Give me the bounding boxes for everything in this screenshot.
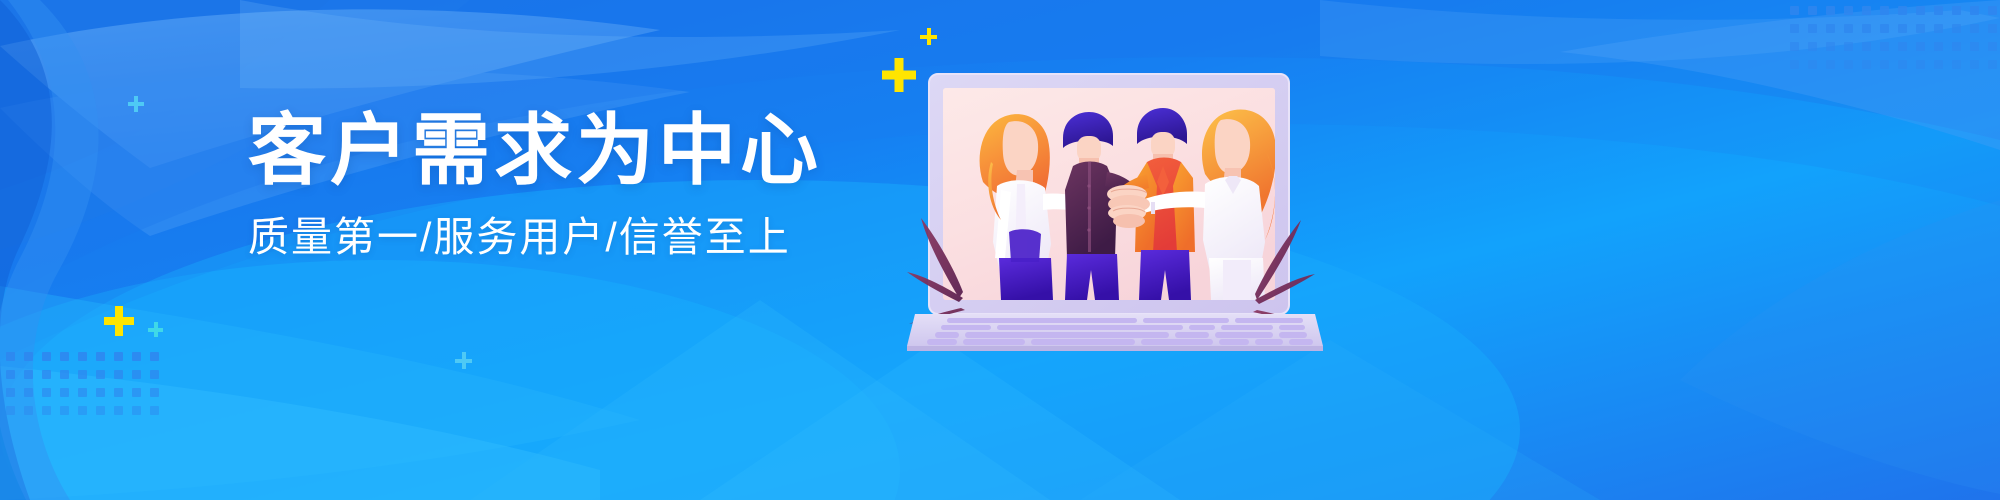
grid-dot — [150, 388, 159, 397]
page-title: 客户需求为中心 — [248, 104, 868, 196]
grid-dot — [1988, 42, 1997, 51]
grid-dot — [1844, 24, 1853, 33]
grid-dot — [114, 370, 123, 379]
grid-dot — [6, 388, 15, 397]
grid-dot — [1952, 24, 1961, 33]
hands-stack — [1107, 185, 1150, 228]
laptop-illustration — [905, 62, 1325, 352]
grid-dot — [1952, 6, 1961, 15]
grid-dot — [1916, 42, 1925, 51]
spark-cyan-mid — [455, 352, 472, 369]
grid-dot — [1808, 60, 1817, 69]
grid-dot — [42, 370, 51, 379]
grid-dot — [6, 352, 15, 361]
grid-dot — [1826, 60, 1835, 69]
grid-dot — [1826, 6, 1835, 15]
grid-dot — [1844, 60, 1853, 69]
grid-dot — [24, 352, 33, 361]
grid-dot — [1880, 24, 1889, 33]
grid-dot — [1970, 60, 1979, 69]
grid-dot — [78, 388, 87, 397]
grid-dot — [1880, 6, 1889, 15]
grid-dot — [1880, 60, 1889, 69]
grid-dot — [1916, 24, 1925, 33]
grid-dot — [42, 388, 51, 397]
grid-dot — [1808, 6, 1817, 15]
grid-dot — [1916, 60, 1925, 69]
grid-dot — [78, 406, 87, 415]
grid-dot — [1790, 42, 1799, 51]
grid-dot — [24, 388, 33, 397]
grid-dot — [1808, 42, 1817, 51]
dot-grid-top-right — [1790, 6, 2000, 78]
grid-dot — [1934, 42, 1943, 51]
grid-dot — [1934, 6, 1943, 15]
headline-block: 客户需求为中心 质量第一/服务用户/信誉至上 — [248, 104, 868, 264]
spark-yellow-lower-left — [104, 306, 134, 336]
grid-dot — [42, 406, 51, 415]
grid-dot — [1898, 60, 1907, 69]
grid-dot — [1862, 24, 1871, 33]
grid-dot — [1988, 6, 1997, 15]
dot-grid-bottom-left — [6, 352, 168, 424]
grid-dot — [114, 352, 123, 361]
grid-dot — [96, 388, 105, 397]
grid-dot — [24, 406, 33, 415]
team-illustration — [943, 88, 1276, 300]
grid-dot — [1952, 42, 1961, 51]
grid-dot — [96, 352, 105, 361]
grid-dot — [1826, 42, 1835, 51]
grid-dot — [1790, 6, 1799, 15]
spark-cyan-top-left — [128, 96, 144, 112]
grid-dot — [1952, 60, 1961, 69]
grid-dot — [1934, 60, 1943, 69]
grid-dot — [132, 388, 141, 397]
grid-dot — [1844, 42, 1853, 51]
grid-dot — [132, 370, 141, 379]
spark-small-yellow — [920, 28, 937, 45]
grid-dot — [1934, 24, 1943, 33]
grid-dot — [1898, 42, 1907, 51]
grid-dot — [42, 352, 51, 361]
grid-dot — [1880, 42, 1889, 51]
grid-dot — [78, 370, 87, 379]
grid-dot — [1862, 6, 1871, 15]
grid-dot — [1808, 24, 1817, 33]
grid-dot — [1916, 6, 1925, 15]
promo-banner: 客户需求为中心 质量第一/服务用户/信誉至上 — [0, 0, 2000, 500]
grid-dot — [1988, 60, 1997, 69]
grid-dot — [1970, 42, 1979, 51]
grid-dot — [96, 370, 105, 379]
grid-dot — [132, 406, 141, 415]
grid-dot — [150, 370, 159, 379]
grid-dot — [150, 406, 159, 415]
grid-dot — [60, 388, 69, 397]
grid-dot — [1898, 6, 1907, 15]
grid-dot — [24, 370, 33, 379]
grid-dot — [60, 370, 69, 379]
grid-dot — [1790, 24, 1799, 33]
grid-dot — [132, 352, 141, 361]
grid-dot — [114, 388, 123, 397]
grid-dot — [1862, 60, 1871, 69]
grid-dot — [1970, 6, 1979, 15]
grid-dot — [60, 406, 69, 415]
grid-dot — [1988, 24, 1997, 33]
page-subtitle: 质量第一/服务用户/信誉至上 — [248, 210, 868, 264]
grid-dot — [96, 406, 105, 415]
laptop-keyboard — [907, 314, 1323, 351]
spark-cyan-small — [148, 322, 163, 337]
grid-dot — [1844, 6, 1853, 15]
grid-dot — [6, 370, 15, 379]
grid-dot — [60, 352, 69, 361]
grid-dot — [78, 352, 87, 361]
grid-dot — [1862, 42, 1871, 51]
grid-dot — [1790, 60, 1799, 69]
grid-dot — [150, 352, 159, 361]
grid-dot — [1970, 24, 1979, 33]
grid-dot — [114, 406, 123, 415]
grid-dot — [6, 406, 15, 415]
grid-dot — [1898, 24, 1907, 33]
grid-dot — [1826, 24, 1835, 33]
